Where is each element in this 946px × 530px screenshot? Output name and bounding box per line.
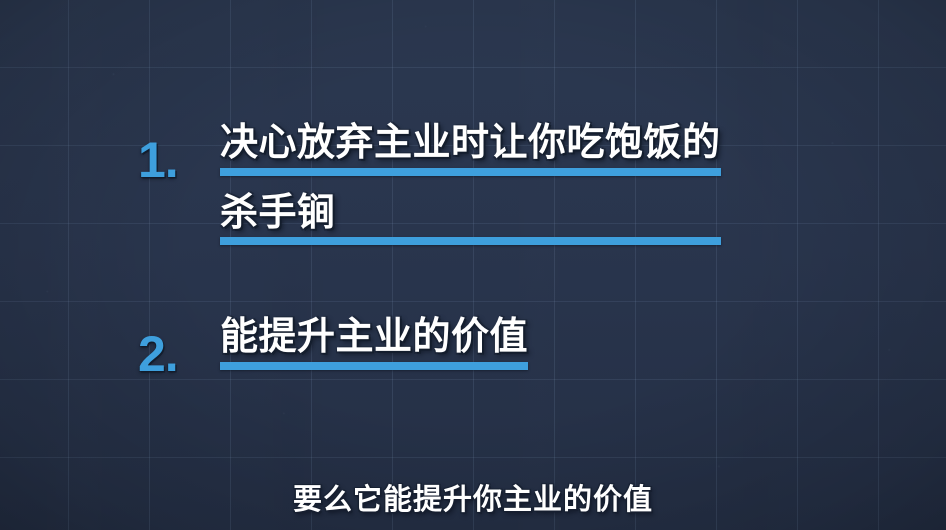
list-item-text: 能提升主业的价值	[220, 318, 528, 358]
list-item: 1. 决心放弃主业时让你吃饱饭的 杀手锏	[138, 124, 721, 245]
list-item-text: 决心放弃主业时让你吃饱饭的	[220, 124, 721, 164]
subtitle-caption: 要么它能提升你主业的价值	[0, 476, 946, 518]
underline-bar	[220, 237, 721, 245]
underline-bar	[220, 168, 721, 176]
underline-bar	[220, 362, 528, 370]
list-item-lines: 能提升主业的价值	[220, 318, 528, 370]
list-item-number: 2.	[138, 318, 220, 379]
list-item-lines: 决心放弃主业时让你吃饱饭的 杀手锏	[220, 124, 721, 245]
list-item-line: 能提升主业的价值	[220, 318, 528, 370]
list-item-number: 1.	[138, 124, 220, 185]
video-slide: 1. 决心放弃主业时让你吃饱饭的 杀手锏 2. 能提升主业的价值	[0, 0, 946, 530]
list-item: 2. 能提升主业的价值	[138, 318, 528, 379]
slide-content: 1. 决心放弃主业时让你吃饱饭的 杀手锏 2. 能提升主业的价值	[0, 0, 946, 530]
list-item-text: 杀手锏	[220, 194, 336, 234]
list-item-line: 杀手锏	[220, 194, 721, 246]
list-item-line: 决心放弃主业时让你吃饱饭的	[220, 124, 721, 176]
